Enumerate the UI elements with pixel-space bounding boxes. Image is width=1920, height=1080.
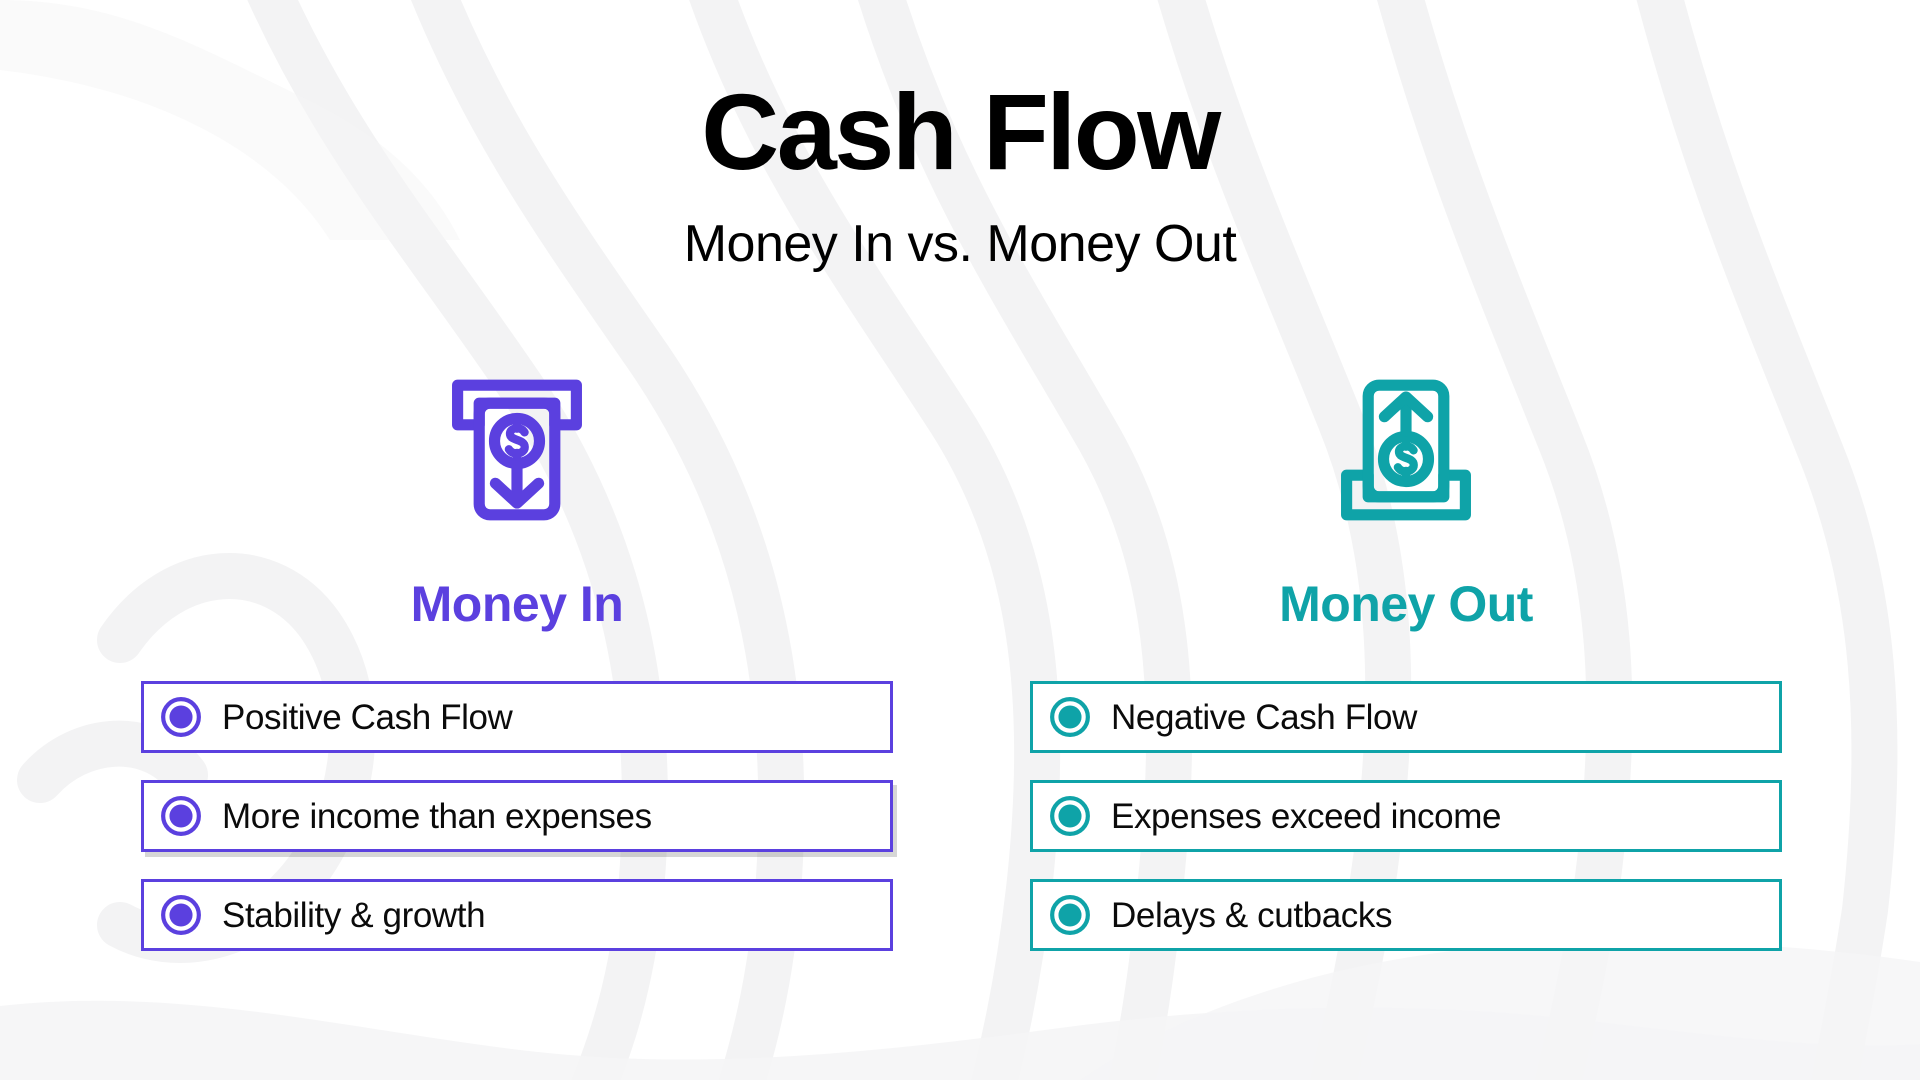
page-subtitle: Money In vs. Money Out (0, 218, 1920, 270)
infographic-stage: Cash Flow Money In vs. Money Out Money I… (0, 0, 1920, 1080)
money-in-heading: Money In (141, 579, 893, 629)
item-label: Positive Cash Flow (222, 700, 512, 735)
item-box-more-income-than-expenses[interactable]: More income than expenses (141, 780, 893, 852)
item-box-positive-cash-flow[interactable]: Positive Cash Flow (141, 681, 893, 753)
money-in-icon-wrap (141, 355, 893, 545)
money-out-item-list: Negative Cash Flow Expenses exceed incom… (1030, 681, 1782, 951)
filled-ring-bullet-icon (160, 696, 202, 738)
page-title: Cash Flow (0, 78, 1920, 186)
atm-cash-withdraw-up-arrow-icon (1316, 360, 1496, 540)
column-money-in: Money In Positive Cash Flow More income … (141, 355, 893, 951)
money-out-heading: Money Out (1030, 579, 1782, 629)
column-money-out: Money Out Negative Cash Flow Expenses ex… (1030, 355, 1782, 951)
filled-ring-bullet-icon (1049, 795, 1091, 837)
filled-ring-bullet-icon (1049, 894, 1091, 936)
header: Cash Flow Money In vs. Money Out (0, 0, 1920, 270)
item-label: Negative Cash Flow (1111, 700, 1417, 735)
item-box-delays-and-cutbacks[interactable]: Delays & cutbacks (1030, 879, 1782, 951)
atm-cash-deposit-down-arrow-icon (427, 360, 607, 540)
filled-ring-bullet-icon (1049, 696, 1091, 738)
item-label: Stability & growth (222, 898, 485, 933)
filled-ring-bullet-icon (160, 795, 202, 837)
item-box-stability-and-growth[interactable]: Stability & growth (141, 879, 893, 951)
money-in-item-list: Positive Cash Flow More income than expe… (141, 681, 893, 951)
filled-ring-bullet-icon (160, 894, 202, 936)
item-box-expenses-exceed-income[interactable]: Expenses exceed income (1030, 780, 1782, 852)
money-out-icon-wrap (1030, 355, 1782, 545)
item-label: Delays & cutbacks (1111, 898, 1392, 933)
item-box-negative-cash-flow[interactable]: Negative Cash Flow (1030, 681, 1782, 753)
item-label: Expenses exceed income (1111, 799, 1501, 834)
item-label: More income than expenses (222, 799, 652, 834)
